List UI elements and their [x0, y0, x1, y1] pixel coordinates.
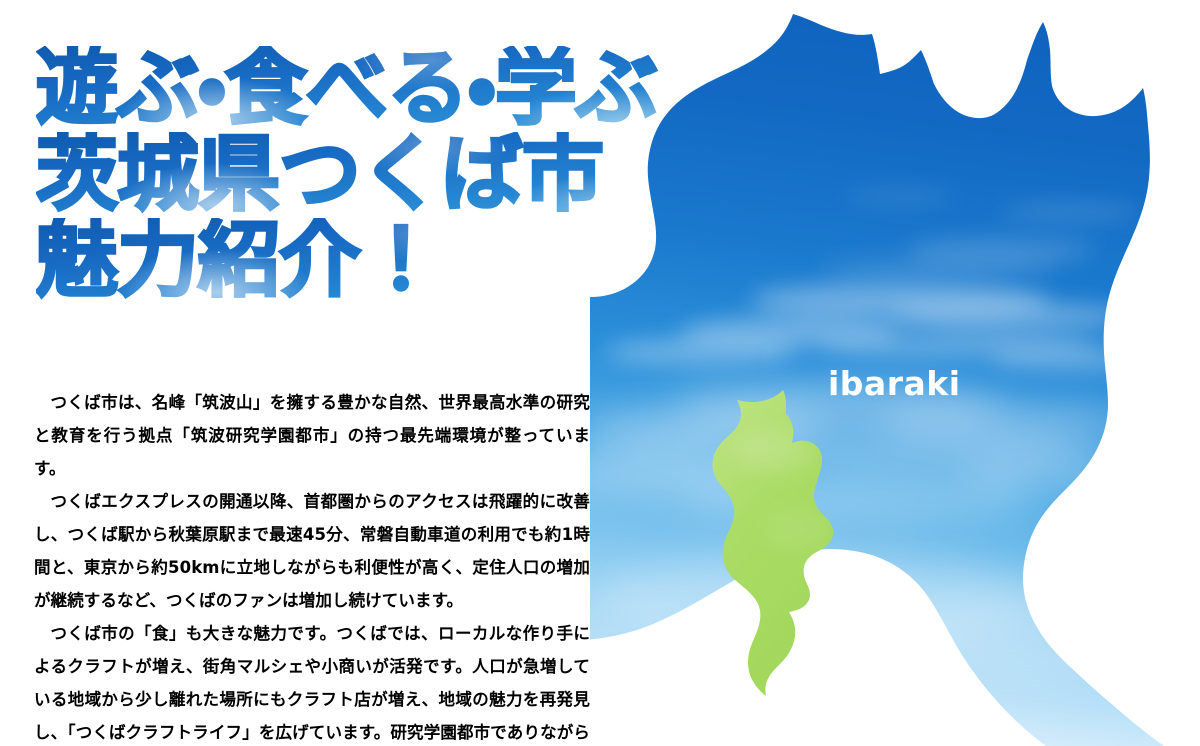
promo-poster: 遊ぶ・食べる・学ぶ 茨城県つくば市 魅力紹介！ つくば市は、名峰「筑波山」を擁す…: [0, 0, 1200, 746]
body-paragraph-3: つくば市の「食」も大きな魅力です。つくばでは、ローカルな作り手によるクラフトが増…: [34, 617, 590, 746]
body-paragraph-1: つくば市は、名峰「筑波山」を擁する豊かな自然、世界最高水準の研究と教育を行う拠点…: [34, 386, 590, 485]
green-region-sheen: [735, 428, 834, 550]
map-prefecture-label: ibaraki: [828, 366, 961, 402]
headline-line-1: 遊ぶ・食べる・学ぶ: [36, 46, 856, 132]
headline-line-3: 魅力紹介！: [36, 218, 856, 304]
page-title: 遊ぶ・食べる・学ぶ 茨城県つくば市 魅力紹介！: [36, 46, 856, 304]
body-copy: つくば市は、名峰「筑波山」を擁する豊かな自然、世界最高水準の研究と教育を行う拠点…: [34, 386, 590, 746]
cloud-haze-bottom: [590, 554, 1190, 680]
body-paragraph-2: つくばエクスプレスの開通以降、首都圏からのアクセスは飛躍的に改善し、つくば駅から…: [34, 485, 590, 617]
headline-line-2: 茨城県つくば市: [36, 132, 856, 218]
cloud-wisps-lower: [550, 382, 1160, 524]
cloud-wisps-upper: [820, 187, 1140, 278]
tsukuba-highlight-region: [700, 380, 860, 710]
